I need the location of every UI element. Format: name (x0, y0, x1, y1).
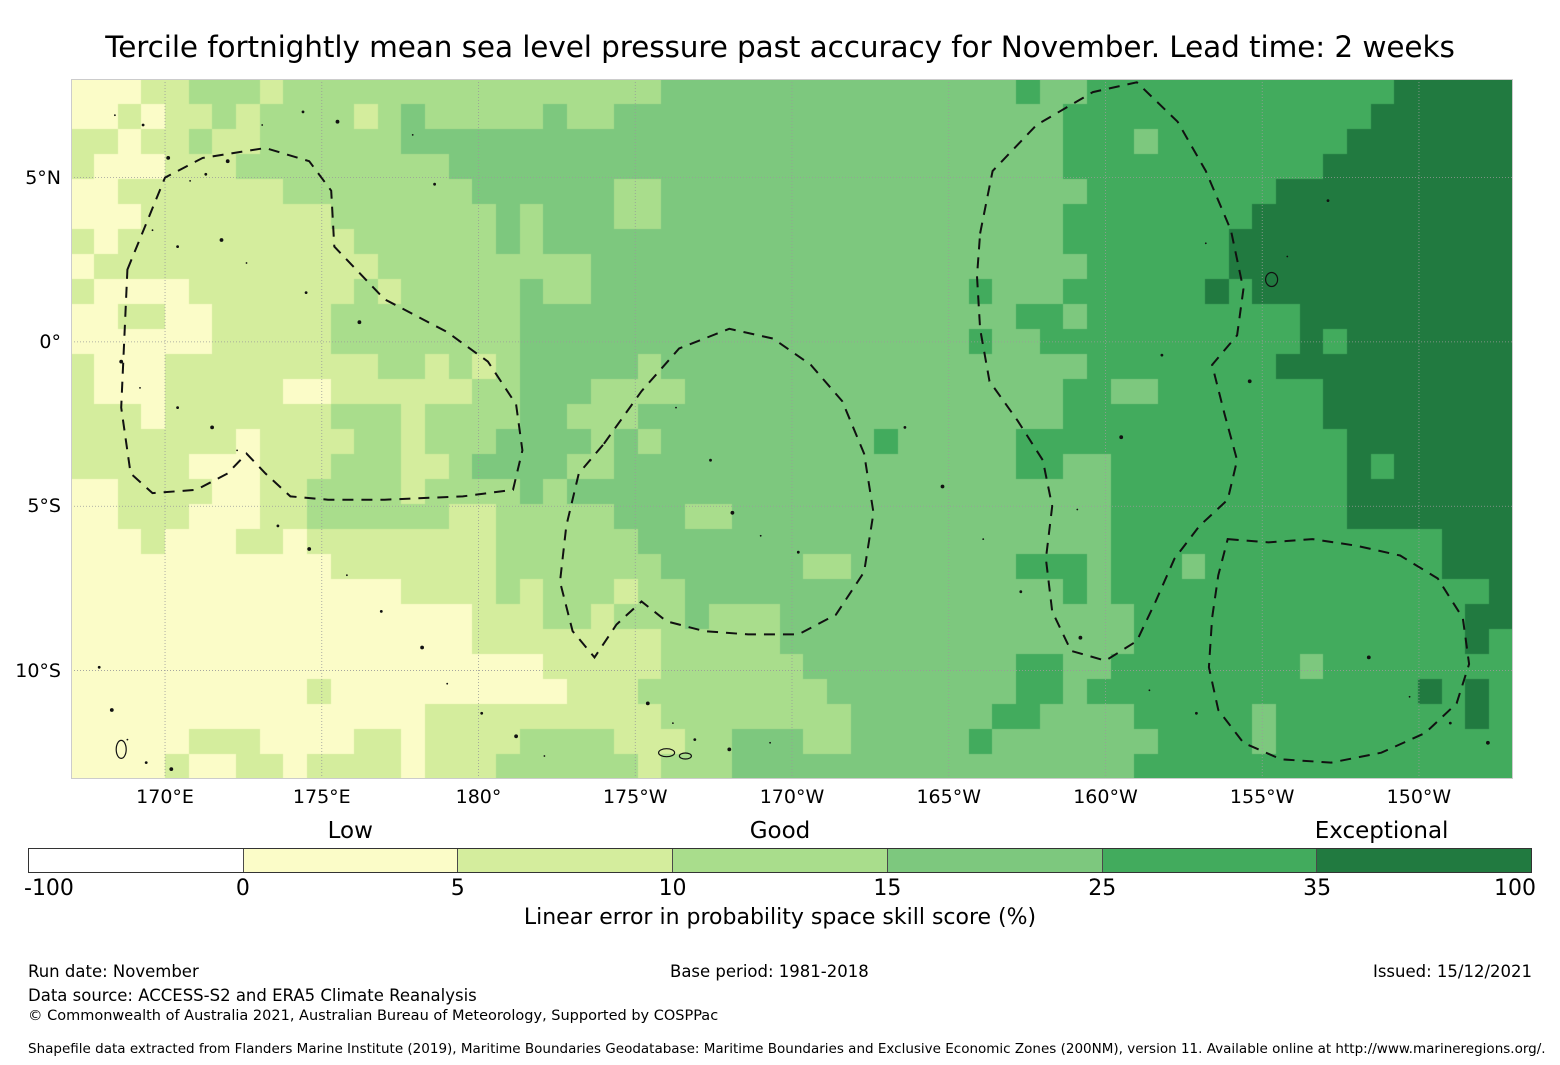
coastline-outline-2 (116, 740, 126, 758)
coastline-island-12 (246, 262, 248, 264)
colorbar-category-0: Low (328, 818, 373, 844)
colorbar-segment-0 (29, 849, 243, 872)
colorbar-axis-label: Linear error in probability space skill … (0, 905, 1560, 930)
footer-base-period: Base period: 1981-2018 (670, 962, 869, 981)
coastline-island-51 (1149, 689, 1151, 691)
map-overlay (71, 79, 1513, 779)
coastline-island-38 (731, 511, 735, 515)
coastline-island-17 (119, 360, 123, 364)
coastline-island-21 (236, 450, 238, 452)
coastline-island-41 (646, 702, 650, 706)
y-tick-label-2: 5°S (27, 495, 61, 517)
coastline-island-48 (982, 538, 984, 540)
eez-boundary-2 (977, 82, 1243, 660)
coastline-island-25 (380, 610, 383, 613)
eez-boundary-0 (121, 148, 522, 500)
coastline-island-39 (760, 535, 762, 537)
x-tick-label-8: 150°W (1387, 786, 1452, 808)
coastline-island-54 (1286, 256, 1288, 258)
colorbar-segment-3 (672, 849, 887, 872)
coastline-island-0 (114, 114, 116, 116)
coastline-island-44 (727, 748, 731, 752)
coastline-island-9 (152, 229, 154, 231)
footer-copyright: © Commonwealth of Australia 2021, Austra… (28, 1008, 718, 1024)
coastline-island-55 (1327, 199, 1330, 202)
coastline-island-34 (145, 761, 148, 764)
coastline-island-15 (412, 134, 414, 136)
colorbar-category-2: Exceptional (1315, 818, 1449, 844)
coastline-island-56 (1367, 656, 1371, 660)
coastline-island-30 (544, 755, 546, 757)
coastline-island-43 (693, 738, 696, 741)
coastline-outline-3 (1266, 273, 1278, 287)
coastline-island-61 (1161, 354, 1164, 357)
coastline-island-28 (480, 712, 483, 715)
coastline-island-57 (1409, 696, 1411, 698)
x-tick-label-5: 165°W (916, 786, 981, 808)
coastline-island-32 (110, 708, 114, 712)
colorbar-tick-6: 35 (1303, 876, 1331, 901)
coastline-island-63 (1076, 509, 1078, 511)
colorbar-tick-1: 0 (236, 876, 250, 901)
x-tick-label-0: 170°E (136, 786, 194, 808)
coastline-island-37 (709, 459, 712, 462)
coastline-island-11 (220, 238, 224, 242)
x-tick-label-2: 180° (456, 786, 502, 808)
figure-root: Tercile fortnightly mean sea level press… (0, 0, 1560, 1065)
y-tick-label-0: 5°N (25, 167, 61, 189)
coastline-outline-1 (679, 753, 691, 759)
coastline-island-4 (204, 173, 207, 176)
coastline-island-6 (261, 124, 263, 126)
coastline-island-24 (346, 574, 348, 576)
coastline-island-40 (797, 551, 800, 554)
colorbar-category-1: Good (750, 818, 811, 844)
coastline-island-19 (176, 406, 179, 409)
colorbar-tick-7: 100 (1494, 876, 1536, 901)
coastline-island-36 (675, 407, 677, 409)
coastline-outline-0 (659, 749, 675, 757)
colorbar-tick-5: 25 (1088, 876, 1116, 901)
footer-issued-date: Issued: 15/12/2021 (1373, 962, 1532, 981)
coastline-island-58 (1449, 722, 1452, 725)
coastline-island-22 (277, 525, 280, 528)
map-plot-area (71, 79, 1513, 779)
coastline-island-5 (226, 159, 230, 163)
figure-title: Tercile fortnightly mean sea level press… (0, 30, 1560, 64)
eez-boundary-1 (560, 329, 874, 658)
coastline-island-18 (139, 387, 141, 389)
colorbar-tick-4: 15 (873, 876, 901, 901)
colorbar-category-labels: LowGoodExceptional (0, 818, 1560, 846)
x-tick-label-6: 160°W (1073, 786, 1138, 808)
coastline-island-23 (307, 547, 311, 551)
coastline-island-31 (98, 666, 101, 669)
coastline-island-49 (1019, 590, 1022, 593)
colorbar-tick-2: 5 (451, 876, 465, 901)
colorbar-tick-3: 10 (659, 876, 687, 901)
coastline-island-26 (420, 646, 424, 650)
x-tick-label-3: 175°W (603, 786, 668, 808)
colorbar-segment-5 (1102, 849, 1317, 872)
coastline-island-7 (302, 111, 305, 114)
coastline-island-27 (446, 683, 448, 685)
x-tick-label-7: 155°W (1230, 786, 1295, 808)
coastline-island-59 (1486, 741, 1490, 745)
y-tick-label-1: 0° (39, 331, 61, 353)
coastline-island-47 (941, 485, 945, 489)
colorbar-segment-1 (243, 849, 458, 872)
coastline-island-46 (904, 426, 907, 429)
coastline-island-53 (1248, 379, 1252, 383)
coastline-island-8 (336, 120, 340, 124)
eez-boundary-3 (1209, 539, 1469, 763)
coastline-island-35 (169, 767, 173, 771)
footer-run-date: Run date: November (28, 962, 199, 981)
coastline-island-52 (1195, 712, 1198, 715)
coastline-island-20 (210, 426, 214, 430)
coastline-island-14 (358, 320, 362, 324)
x-tick-label-4: 170°W (760, 786, 825, 808)
coastline-island-50 (1079, 636, 1083, 640)
colorbar-tick-0: -100 (24, 876, 74, 901)
coastline-island-29 (514, 734, 518, 738)
coastline-island-2 (166, 156, 170, 160)
coastline-island-1 (142, 124, 145, 127)
coastline-island-33 (127, 739, 129, 741)
coastline-island-10 (176, 245, 179, 248)
coastline-island-45 (769, 742, 771, 744)
colorbar (28, 848, 1532, 873)
x-tick-label-1: 175°E (293, 786, 351, 808)
footer-shapefile-credit: Shapefile data extracted from Flanders M… (28, 1041, 1546, 1057)
colorbar-segment-4 (887, 849, 1102, 872)
colorbar-tick-labels: -1000510152535100 (0, 876, 1560, 902)
colorbar-segment-6 (1316, 849, 1531, 872)
coastline-island-60 (1205, 242, 1207, 244)
coastline-island-42 (672, 722, 674, 724)
y-tick-label-3: 10°S (15, 660, 61, 682)
coastline-island-16 (433, 183, 436, 186)
coastline-island-62 (1119, 435, 1123, 439)
footer-data-source: Data source: ACCESS-S2 and ERA5 Climate … (28, 986, 477, 1005)
colorbar-segment-2 (457, 849, 672, 872)
coastline-island-3 (189, 180, 191, 182)
coastline-island-13 (305, 291, 308, 294)
